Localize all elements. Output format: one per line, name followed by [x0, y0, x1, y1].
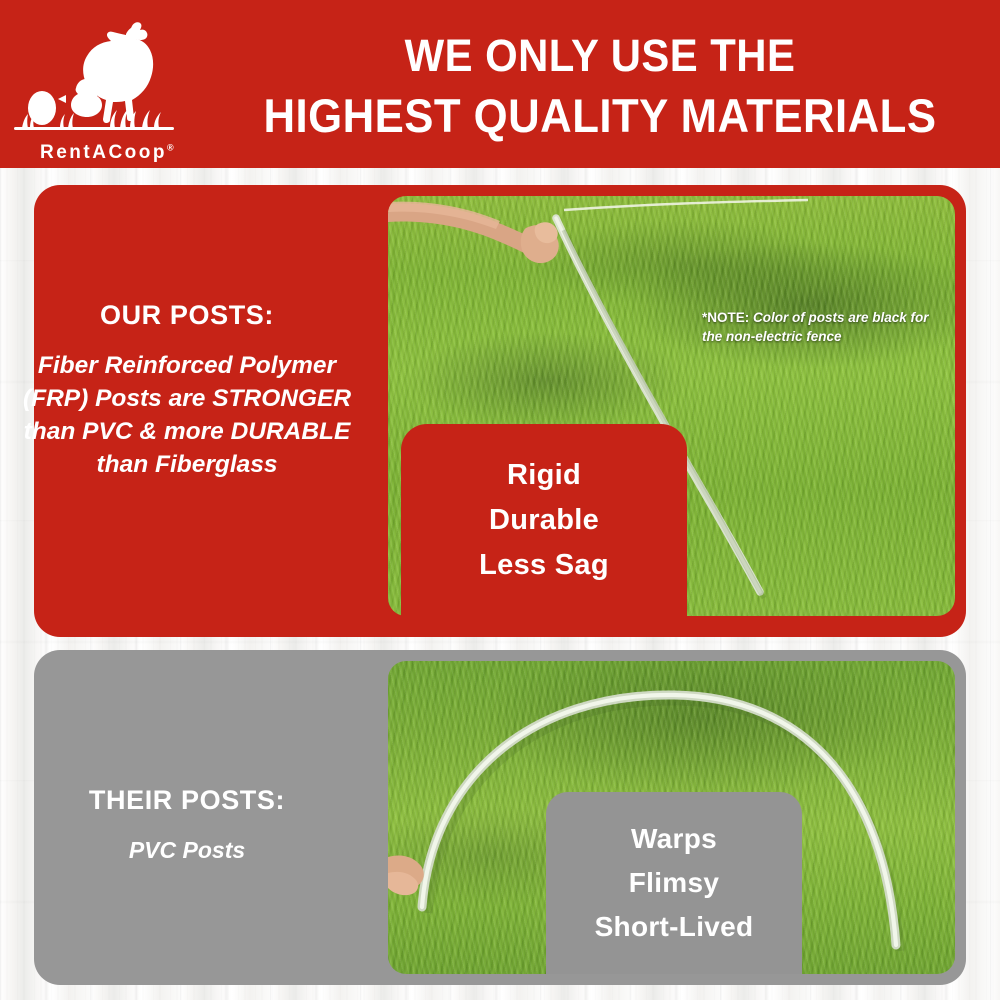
header-headline: WE ONLY USE THE HIGHEST QUALITY MATERIAL…: [215, 26, 985, 146]
their-posts-description: PVC Posts: [22, 834, 352, 867]
brand-name: RentACoop: [40, 142, 167, 163]
our-posts-label-block: OUR POSTS: Fiber Reinforced Polymer (FRP…: [22, 300, 352, 481]
registered-mark: ®: [167, 143, 174, 153]
brand-wordmark: RentACoop®: [40, 142, 210, 164]
hen-chick-egg-icon: [14, 16, 214, 136]
headline-line-2: HIGHEST QUALITY MATERIALS: [242, 86, 958, 146]
callout-line: Short-Lived: [595, 905, 754, 949]
header-banner: RentACoop® WE ONLY USE THE HIGHEST QUALI…: [0, 0, 1000, 168]
note-overlay: *NOTE: Color of posts are black for the …: [702, 308, 947, 346]
callout-line: Flimsy: [629, 861, 720, 905]
callout-line: Warps: [631, 817, 717, 861]
our-posts-title: OUR POSTS:: [22, 300, 352, 331]
callout-line: Rigid: [507, 453, 581, 498]
our-posts-callout: Rigid Durable Less Sag: [401, 424, 687, 616]
rentacoop-logo: RentACoop®: [14, 16, 214, 156]
their-posts-callout: Warps Flimsy Short-Lived: [546, 792, 802, 974]
our-posts-description: Fiber Reinforced Polymer (FRP) Posts are…: [22, 349, 352, 481]
note-label: *NOTE:: [702, 310, 749, 325]
headline-line-1: WE ONLY USE THE: [242, 26, 958, 86]
callout-line: Less Sag: [479, 543, 609, 588]
callout-line: Durable: [489, 498, 599, 543]
their-posts-title: THEIR POSTS:: [22, 785, 352, 816]
their-posts-label-block: THEIR POSTS: PVC Posts: [22, 785, 352, 867]
